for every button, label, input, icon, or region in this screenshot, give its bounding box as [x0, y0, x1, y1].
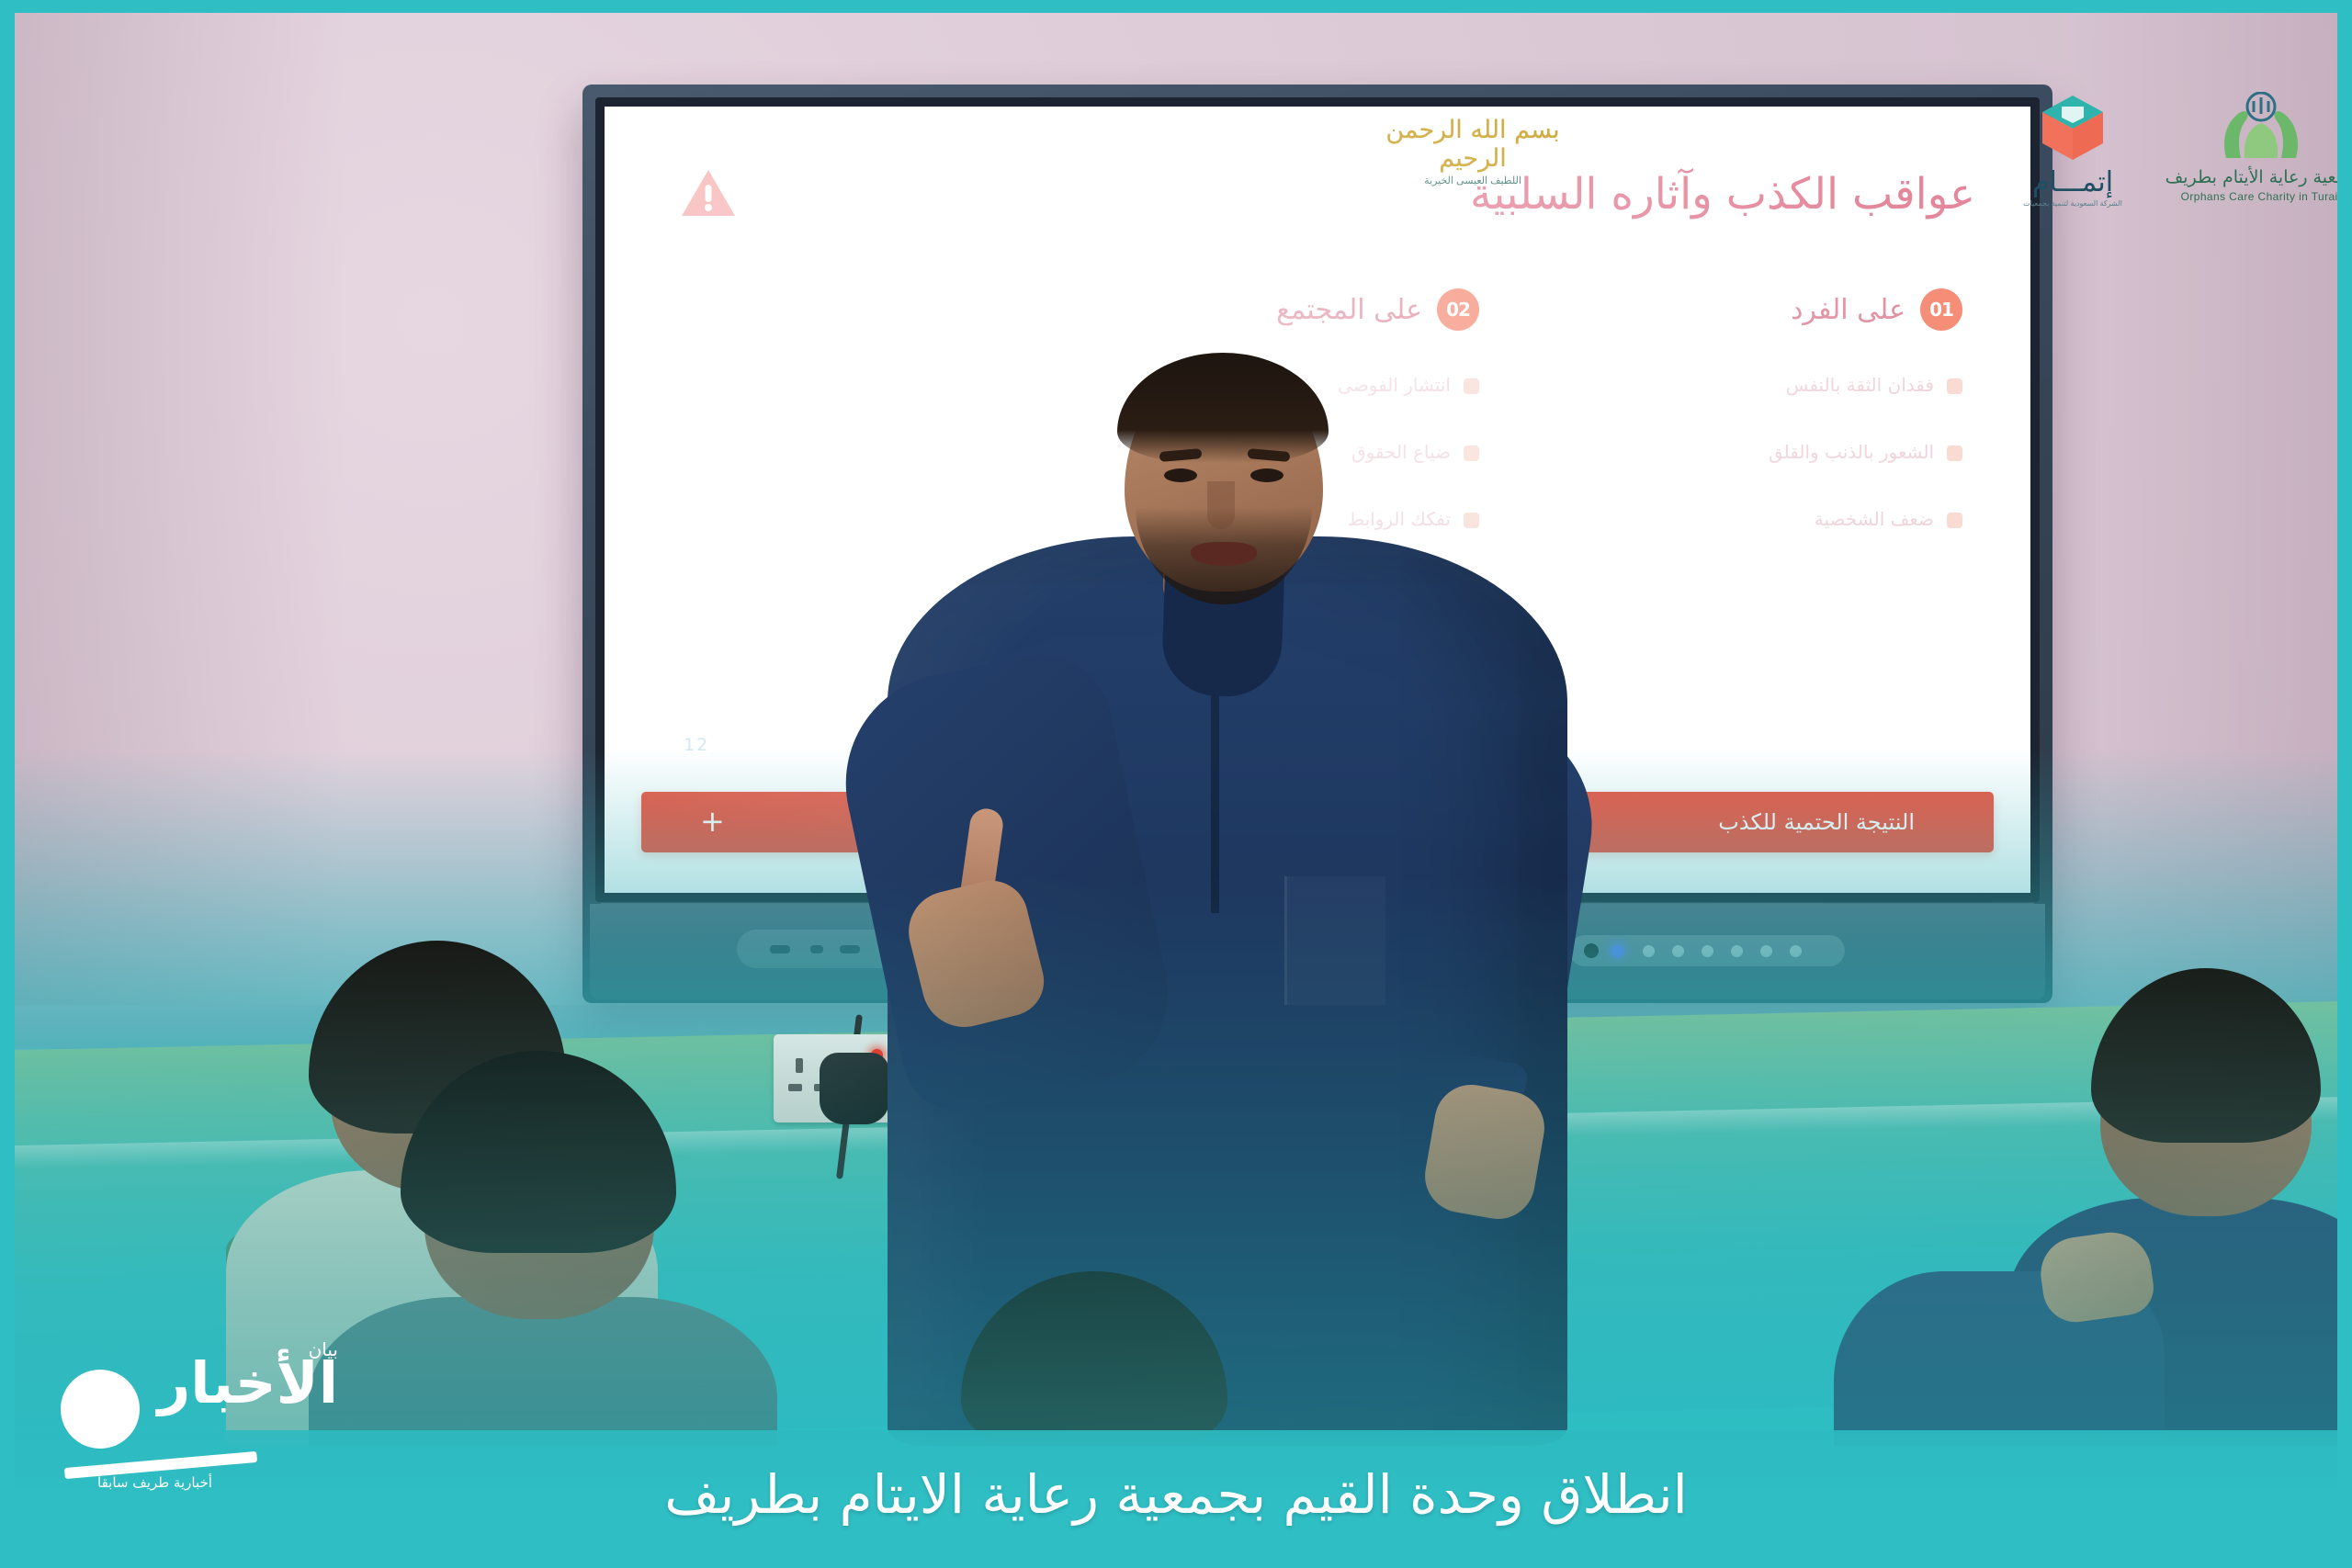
frame-border-right	[2337, 0, 2352, 1568]
thobe-pocket	[1284, 876, 1385, 1005]
student-person	[961, 1271, 1227, 1446]
caring-hands-icon	[2217, 92, 2305, 162]
socket-hole	[788, 1084, 802, 1091]
column-header: 02 على المجتمع	[1057, 288, 1479, 331]
warning-triangle-icon	[680, 167, 737, 219]
caption-text: انطلاق وحدة القيم بجمعية رعاية الايتام ب…	[664, 1463, 1688, 1526]
bullet-item: فقدان الثقة بالنفس	[1540, 373, 1962, 398]
column-title: على المجتمع	[1276, 294, 1422, 326]
caption-band: انطلاق وحدة القيم بجمعية رعاية الايتام ب…	[15, 1430, 2337, 1559]
bullet-dot-icon	[1947, 513, 1962, 528]
news-agency-watermark: بيان الأخبار أخبارية طريف سابقاً	[53, 1322, 347, 1496]
student-hair	[961, 1271, 1227, 1446]
presenter-mouth	[1191, 542, 1257, 566]
frame-border-bottom	[0, 1559, 2352, 1568]
presenter-eye	[1250, 468, 1283, 482]
student-hand	[2036, 1227, 2157, 1326]
socket-hole	[796, 1058, 803, 1073]
student-hair	[2091, 968, 2321, 1143]
photograph: إتمـــام الشركة السعودية لتنمية بجمعيات …	[15, 13, 2337, 1446]
student-person	[1834, 1235, 2165, 1446]
student-person	[382, 1051, 704, 1446]
bullet-item: ضعف الشخصية	[1540, 507, 1962, 532]
slide-title: عواقب الكذب وآثاره السلبية	[1470, 169, 1975, 220]
column-badge: 02	[1437, 288, 1479, 331]
column-badge: 01	[1920, 288, 1962, 331]
cube-icon	[2035, 92, 2110, 164]
frame-border-top	[0, 0, 2352, 13]
news-photo-stage: إتمـــام الشركة السعودية لتنمية بجمعيات …	[0, 0, 2352, 1568]
watermark-tagline: أخبارية طريف سابقاً	[97, 1474, 212, 1491]
basmala-text: بسم الله الرحمن الرحيم	[1385, 116, 1560, 173]
charity-logo-english: Orphans Care Charity in Turaif	[2155, 190, 2337, 203]
student-torso	[309, 1297, 777, 1446]
watermark-circle-icon	[61, 1370, 140, 1449]
bullet-text: ضعف الشخصية	[1815, 507, 1934, 532]
charity-logo-arabic: جمعية رعاية الأيتام بطريف	[2155, 167, 2337, 187]
bullet-text: فقدان الثقة بالنفس	[1786, 373, 1934, 398]
column-title: على الفرد	[1791, 294, 1905, 326]
etmam-logo-word: إتمـــام	[1995, 166, 2151, 198]
bullet-dot-icon	[1947, 378, 1962, 394]
presenter-eye	[1164, 468, 1197, 482]
frame-border-left	[0, 0, 15, 1568]
etmam-logo-subtitle: الشركة السعودية لتنمية بجمعيات	[1995, 199, 2151, 209]
presenter-nose	[1207, 481, 1235, 529]
charity-logo: جمعية رعاية الأيتام بطريف Orphans Care C…	[2155, 92, 2337, 203]
bullet-item: الشعور بالذنب والقلق	[1540, 440, 1962, 465]
student-hair	[401, 1051, 676, 1253]
bullet-text: الشعور بالذنب والقلق	[1769, 440, 1934, 465]
presenter-hair	[1117, 353, 1329, 463]
slide-column-individual: 01 على الفرد فقدان الثقة بالنفس الشعور ب…	[1540, 288, 1962, 532]
etmam-logo: إتمـــام الشركة السعودية لتنمية بجمعيات	[1995, 92, 2151, 209]
watermark-big-word: الأخبار	[158, 1355, 338, 1412]
bullet-dot-icon	[1947, 446, 1962, 461]
column-header: 01 على الفرد	[1540, 288, 1962, 331]
power-plug	[820, 1053, 889, 1124]
